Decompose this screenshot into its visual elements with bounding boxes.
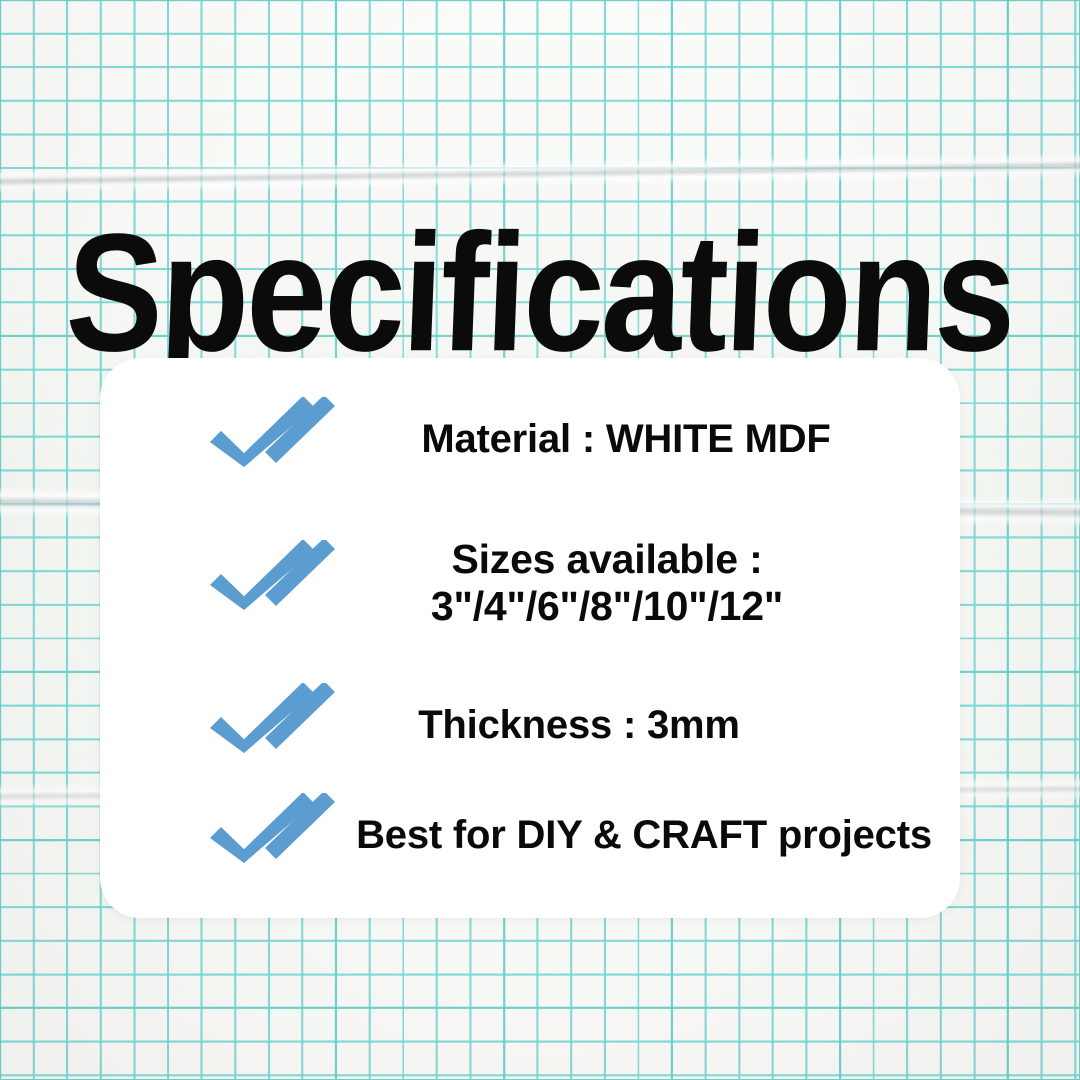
list-item: Material : WHITE MDF (100, 388, 960, 492)
double-check-icon (206, 793, 338, 879)
double-check-icon (206, 683, 338, 769)
list-item-label: Sizes available : 3"/4"/6"/8"/10"/12" (338, 536, 960, 629)
specs-card: Material : WHITE MDF Sizes available : 3… (100, 358, 960, 918)
spec-list: Material : WHITE MDF Sizes available : 3… (100, 358, 960, 918)
list-item: Thickness : 3mm (100, 676, 960, 776)
list-item-label: Best for DIY & CRAFT projects (338, 813, 960, 859)
list-item: Best for DIY & CRAFT projects (100, 786, 960, 886)
double-check-icon (206, 540, 338, 626)
specifications-poster: Specifications Material : WHITE MDF Si (0, 0, 1080, 1080)
page-title: Specifications (40, 209, 1040, 376)
list-item-label: Thickness : 3mm (338, 703, 960, 749)
list-item-label: Material : WHITE MDF (338, 417, 960, 463)
double-check-icon (206, 397, 338, 483)
list-item: Sizes available : 3"/4"/6"/8"/10"/12" (100, 518, 960, 648)
